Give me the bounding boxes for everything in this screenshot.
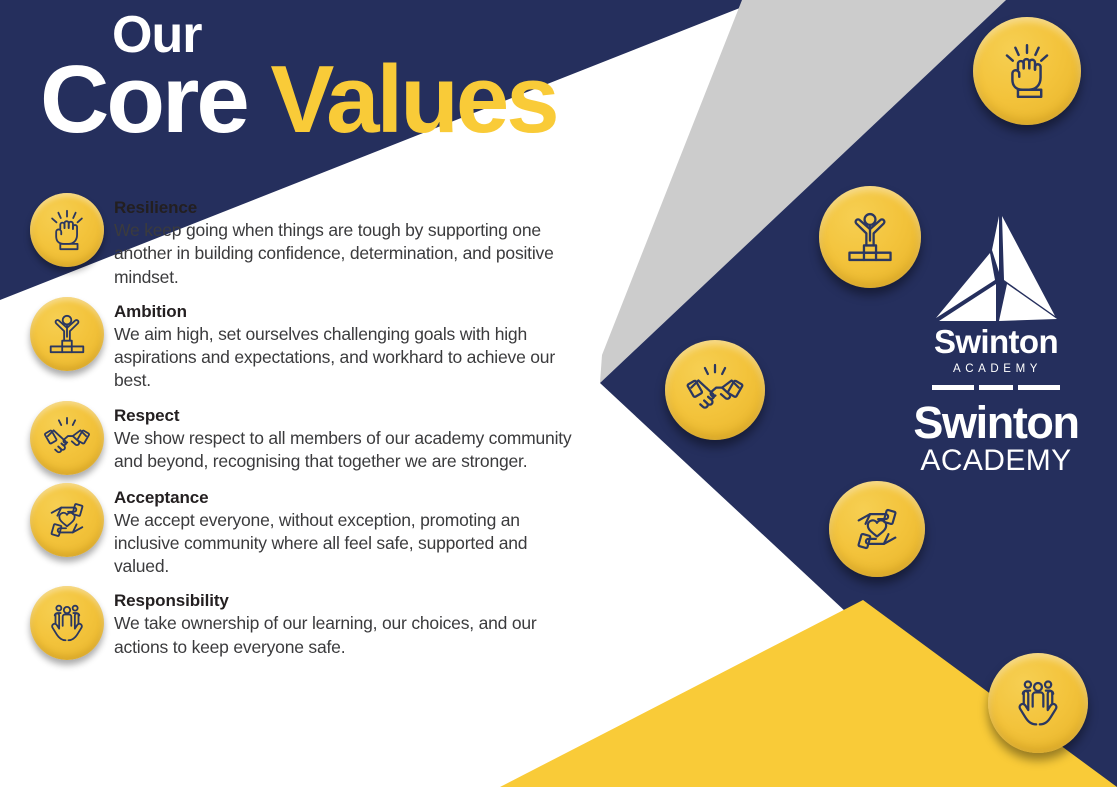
logo-rule-segment-2 — [979, 385, 1013, 390]
logo-large-wordmark: Swinton — [908, 400, 1084, 445]
value-title: Responsibility — [114, 591, 584, 611]
logo-divider-rule — [908, 385, 1084, 390]
value-text-acceptance: Acceptance We accept everyone, without e… — [114, 483, 584, 579]
value-text-respect: Respect We show respect to all members o… — [114, 401, 584, 474]
value-item-responsibility: Responsibility We take ownership of our … — [30, 586, 630, 660]
hands-heart-icon — [30, 483, 104, 557]
title-core: Core — [40, 46, 247, 153]
floating-raised-fist-icon — [973, 17, 1081, 125]
swinton-triangle-mark — [933, 212, 1059, 324]
value-description: We accept everyone, without exception, p… — [114, 509, 584, 579]
value-title: Acceptance — [114, 488, 584, 508]
logo-rule-segment-1 — [932, 385, 974, 390]
value-description: We show respect to all members of our ac… — [114, 427, 584, 474]
logo-wordmark: Swinton — [908, 325, 1084, 358]
value-text-ambition: Ambition We aim high, set ourselves chal… — [114, 297, 584, 393]
value-text-responsibility: Responsibility We take ownership of our … — [114, 586, 584, 659]
value-description: We aim high, set ourselves challenging g… — [114, 323, 584, 393]
title-core-values: Core Values — [40, 54, 557, 145]
swinton-academy-logo: Swinton ACADEMY Swinton ACADEMY — [908, 212, 1084, 476]
floating-handshake-icon — [665, 340, 765, 440]
value-item-ambition: Ambition We aim high, set ourselves chal… — [30, 297, 630, 393]
value-description: We keep going when things are tough by s… — [114, 219, 584, 289]
value-title: Ambition — [114, 302, 584, 322]
value-description: We take ownership of our learning, our c… — [114, 612, 584, 659]
handshake-icon — [30, 401, 104, 475]
value-title: Respect — [114, 406, 584, 426]
value-text-resilience: Resilience We keep going when things are… — [114, 193, 584, 289]
raised-fist-icon — [30, 193, 104, 267]
floating-hands-heart-icon — [829, 481, 925, 577]
hands-people-icon — [30, 586, 104, 660]
value-item-respect: Respect We show respect to all members o… — [30, 401, 630, 475]
floating-podium-winner-icon — [819, 186, 921, 288]
logo-large-wordmark-sub: ACADEMY — [908, 446, 1084, 476]
title-values: Values — [270, 46, 556, 153]
value-item-acceptance: Acceptance We accept everyone, without e… — [30, 483, 630, 579]
podium-winner-icon — [30, 297, 104, 371]
core-values-list: Resilience We keep going when things are… — [30, 193, 630, 668]
poster-canvas: Our Core Values Resilience We keep going… — [0, 0, 1117, 787]
logo-rule-segment-3 — [1018, 385, 1060, 390]
value-item-resilience: Resilience We keep going when things are… — [30, 193, 630, 289]
page-title: Our Core Values — [108, 12, 557, 145]
value-title: Resilience — [114, 198, 584, 218]
floating-hands-people-icon — [988, 653, 1088, 753]
logo-wordmark-sub: ACADEMY — [911, 364, 1084, 376]
